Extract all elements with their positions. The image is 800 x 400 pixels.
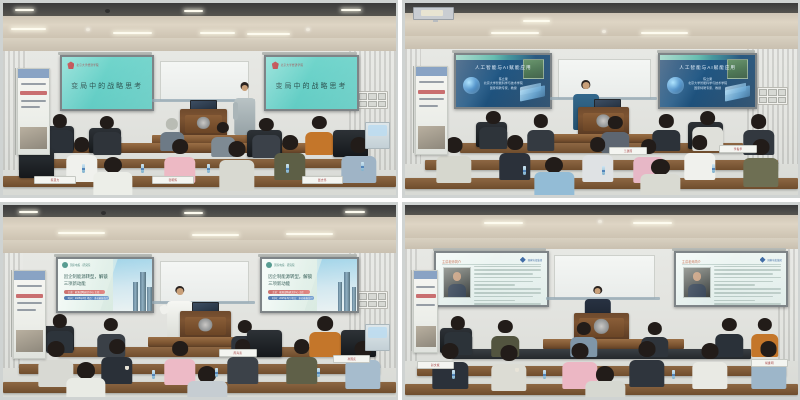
banner-line [419, 98, 444, 100]
nameplate: 陈亚力 [34, 176, 75, 184]
attendee [227, 339, 258, 383]
banner-line [416, 304, 435, 306]
attendee [499, 135, 530, 179]
attendee [93, 157, 132, 195]
water-bottle [207, 164, 210, 173]
wall-outlet-panel [357, 291, 389, 308]
banner-header [416, 67, 447, 76]
slide-title: 变局中的战略思考 [62, 81, 152, 91]
attendee [641, 159, 680, 195]
ceiling-beam [3, 205, 396, 217]
ceiling-light [633, 222, 672, 224]
company-logo-icon [62, 262, 68, 268]
banner-line [17, 302, 42, 304]
projection-screen-right: 人工智能与AI赋能应用 陈立果 北京大学智能科学与技术学院 国家特聘专家、教授 [658, 53, 756, 109]
tower [344, 272, 350, 310]
ceiling-downlight [306, 28, 310, 31]
wall-outlet-panel [757, 87, 789, 104]
ceiling-light [184, 10, 204, 12]
company-logo-icon [760, 257, 766, 263]
water-bottle [672, 370, 675, 379]
company-logo-icon [266, 262, 272, 268]
university-logo-icon [272, 61, 279, 69]
ceiling-camera-icon [101, 211, 106, 215]
ceiling-light [58, 232, 105, 234]
slide-pill-schedule: 时间：2025年6月 地点：多功能报告厅 [268, 296, 313, 300]
ceiling-light [192, 234, 239, 236]
banner-highlight [418, 90, 444, 94]
water-bottle [317, 368, 320, 377]
company-logo-icon [520, 257, 526, 263]
banner-line [17, 285, 42, 287]
water-bottle [712, 164, 715, 173]
speaker-portrait [443, 267, 471, 298]
roll-up-banner [13, 270, 46, 358]
banner-line [21, 83, 46, 85]
photo-top-left: 北京大学经济学院 变局中的战略思考 北京大学经济学院 变局中的战略思考 [3, 3, 396, 195]
water-bottle [82, 164, 85, 173]
attendee [274, 135, 305, 179]
banner-pole [411, 270, 412, 351]
photo-bottom-left: 国家电投 · 研究院 因企制能源转型，解锁 三项新动能 主讲：能源战略研究中心 … [3, 205, 396, 397]
attendee [527, 114, 555, 150]
slide-pill-presenter: 主讲：能源战略研究中心 主任 [64, 290, 106, 294]
projection-screen-left: 国家电投 · 研究院 因企制能源转型，解锁 三项新动能 主讲：能源战略研究中心 … [56, 257, 154, 313]
roll-up-banner [413, 270, 439, 353]
banner-photo [416, 326, 436, 347]
tower [133, 282, 138, 311]
ceiling-light [341, 9, 361, 11]
nameplate: 李振华 [719, 145, 756, 153]
banner-photo [20, 127, 46, 149]
slide-subtitle: 陈立果 北京大学智能科学与技术学院 国家特聘专家、教授 [456, 77, 550, 91]
banner-line [419, 81, 444, 83]
nameplate: 孙国庆 [333, 355, 370, 363]
attendee [101, 339, 132, 383]
attendee [692, 343, 727, 389]
ceiling-soffit [3, 16, 396, 37]
ceiling-light [184, 212, 204, 214]
slide-title: 变局中的战略思考 [266, 81, 356, 91]
ceiling-beam [405, 205, 798, 215]
slide-title: 人工智能与AI赋能应用 [456, 65, 550, 71]
photo-top-right: 人工智能与AI赋能应用 陈立果 北京大学智能科学与技术学院 国家特聘专家、教授 … [405, 3, 798, 195]
water-cooler [365, 122, 391, 149]
attendee [188, 366, 227, 397]
banner-photo [16, 330, 42, 352]
ceiling-soffit-lower [3, 240, 396, 253]
nameplate: 王建国 [609, 147, 646, 155]
slide-title: 因企制能源转型，解锁 三项新动能 [268, 274, 313, 288]
ceiling-soffit [405, 215, 798, 238]
ceiling-projector-icon [413, 7, 454, 21]
banner-pole [413, 66, 414, 152]
ceiling-light [200, 32, 235, 34]
attendee [586, 366, 625, 397]
water-bottle [215, 368, 218, 377]
tower [140, 272, 146, 310]
bio-text-block [714, 266, 781, 300]
tower [147, 287, 151, 311]
banner-line [21, 100, 46, 102]
slide-logo: 国家电投集团 [760, 257, 782, 263]
ceiling-light [247, 33, 290, 35]
podium [180, 311, 231, 338]
slide-logo: 国家电投 · 研究院 [266, 262, 294, 268]
slide-title: 人工智能与AI赋能应用 [660, 65, 754, 71]
nameplate: 周海涛 [219, 349, 256, 357]
slide-pill-schedule: 时间：2025年6月 地点：多功能报告厅 [64, 296, 109, 300]
banner-header [414, 271, 438, 279]
roll-up-banner [17, 68, 50, 154]
tower [338, 282, 343, 311]
banner-line [21, 106, 40, 108]
projection-screen-left: 主讲老师简介 国家电投集团 [434, 251, 548, 307]
projection-screen-left: 人工智能与AI赋能应用 陈立果 北京大学智能科学与技术学院 国家特聘专家、教授 [454, 53, 552, 109]
ceiling-soffit-lower [3, 38, 396, 51]
nameplate: 聂志伟 [302, 176, 343, 184]
water-bottle [361, 162, 364, 171]
city-skyline-image [317, 259, 357, 311]
attendee [93, 116, 121, 154]
slide-pill-presenter: 主讲：能源战略研究中心 主任 [268, 290, 310, 294]
projection-screen-right: 主讲老师简介 国家电投集团 [674, 251, 788, 307]
banner-highlight [16, 294, 42, 298]
ceiling-soffit-lower [405, 36, 798, 49]
attendee [306, 116, 334, 154]
attendee [219, 141, 254, 191]
attendee [684, 135, 715, 179]
nameplate: 胡继明 [751, 359, 788, 367]
attendee [629, 341, 664, 387]
photo-collage: 北京大学经济学院 变局中的战略思考 北京大学经济学院 变局中的战略思考 [0, 0, 800, 400]
projection-screen-right: 国家电投 · 研究院 因企制能源转型，解锁 三项新动能 主讲：能源战略研究中心 … [260, 257, 358, 313]
projection-screen-left: 北京大学经济学院 变局中的战略思考 [60, 55, 154, 111]
banner-line [419, 105, 438, 107]
university-logo-icon [67, 61, 74, 69]
water-bottle [602, 166, 605, 175]
ceiling-light [484, 222, 523, 224]
banner-header [18, 69, 49, 77]
ceiling-light [15, 9, 35, 11]
ceiling-downlight [86, 28, 90, 31]
ceiling-light [641, 32, 688, 34]
bio-text-block [474, 266, 541, 300]
collage-panel-bottom-right: 主讲老师简介 国家电投集团 主讲老师简介 [402, 202, 800, 400]
slide-logo: 北京大学经济学院 [67, 61, 98, 69]
slide-subtitle: 陈立果 北京大学智能科学与技术学院 国家特聘专家、教授 [660, 77, 754, 91]
water-cooler [365, 324, 391, 351]
banner-line [17, 309, 36, 311]
water-bottle [543, 370, 546, 379]
photo-bottom-right: 主讲老师简介 国家电投集团 主讲老师简介 [405, 205, 798, 397]
wall-outlet-panel [357, 91, 389, 108]
slide-logo: 北京大学经济学院 [272, 61, 303, 69]
collage-panel-top-left: 北京大学经济学院 变局中的战略思考 北京大学经济学院 变局中的战略思考 [0, 0, 398, 198]
ceiling-light [523, 20, 551, 22]
attendee [582, 137, 613, 181]
attendee [66, 362, 105, 397]
attendee [286, 339, 317, 383]
ceiling-camera-icon [105, 9, 110, 13]
nameplate: 张明辉 [152, 176, 193, 184]
ceiling-downlight [602, 30, 606, 33]
water-bottle [286, 164, 289, 173]
water-bottle [523, 166, 526, 175]
collage-panel-bottom-left: 国家电投 · 研究院 因企制能源转型，解锁 三项新动能 主讲：能源战略研究中心 … [0, 202, 398, 400]
nameplate: 赵文斌 [417, 361, 454, 369]
speaker-portrait [683, 267, 711, 298]
banner-line [416, 286, 435, 288]
ceiling-beam [405, 3, 798, 13]
banner-highlight [20, 91, 46, 95]
water-bottle [152, 370, 155, 379]
projection-screen-right: 北京大学经济学院 变局中的战略思考 [264, 55, 358, 111]
water-bottle [141, 164, 144, 173]
banner-header [14, 271, 45, 280]
ceiling-light [19, 211, 39, 213]
slide-logo: 国家电投集团 [520, 257, 542, 263]
attendee [535, 157, 574, 195]
banner-pole [11, 270, 12, 356]
water-bottle [452, 370, 455, 379]
banner-pole [15, 68, 16, 154]
tower [352, 287, 356, 311]
slide-title: 因企制能源转型，解锁 三项新动能 [64, 274, 109, 288]
ceiling-light [113, 32, 152, 34]
roll-up-banner [415, 66, 448, 154]
city-skyline-image [113, 259, 153, 311]
banner-highlight [416, 294, 436, 298]
banner-photo [418, 126, 444, 148]
attendee [491, 345, 526, 391]
ceiling-soffit [3, 217, 396, 240]
slide-logo: 国家电投 · 研究院 [62, 262, 90, 268]
ceiling-light [345, 211, 365, 213]
ceiling-light [11, 28, 46, 30]
ceiling-light [491, 32, 538, 34]
ceiling-light [286, 233, 333, 235]
collage-panel-top-right: 人工智能与AI赋能应用 陈立果 北京大学智能科学与技术学院 国家特聘专家、教授 … [402, 0, 800, 198]
